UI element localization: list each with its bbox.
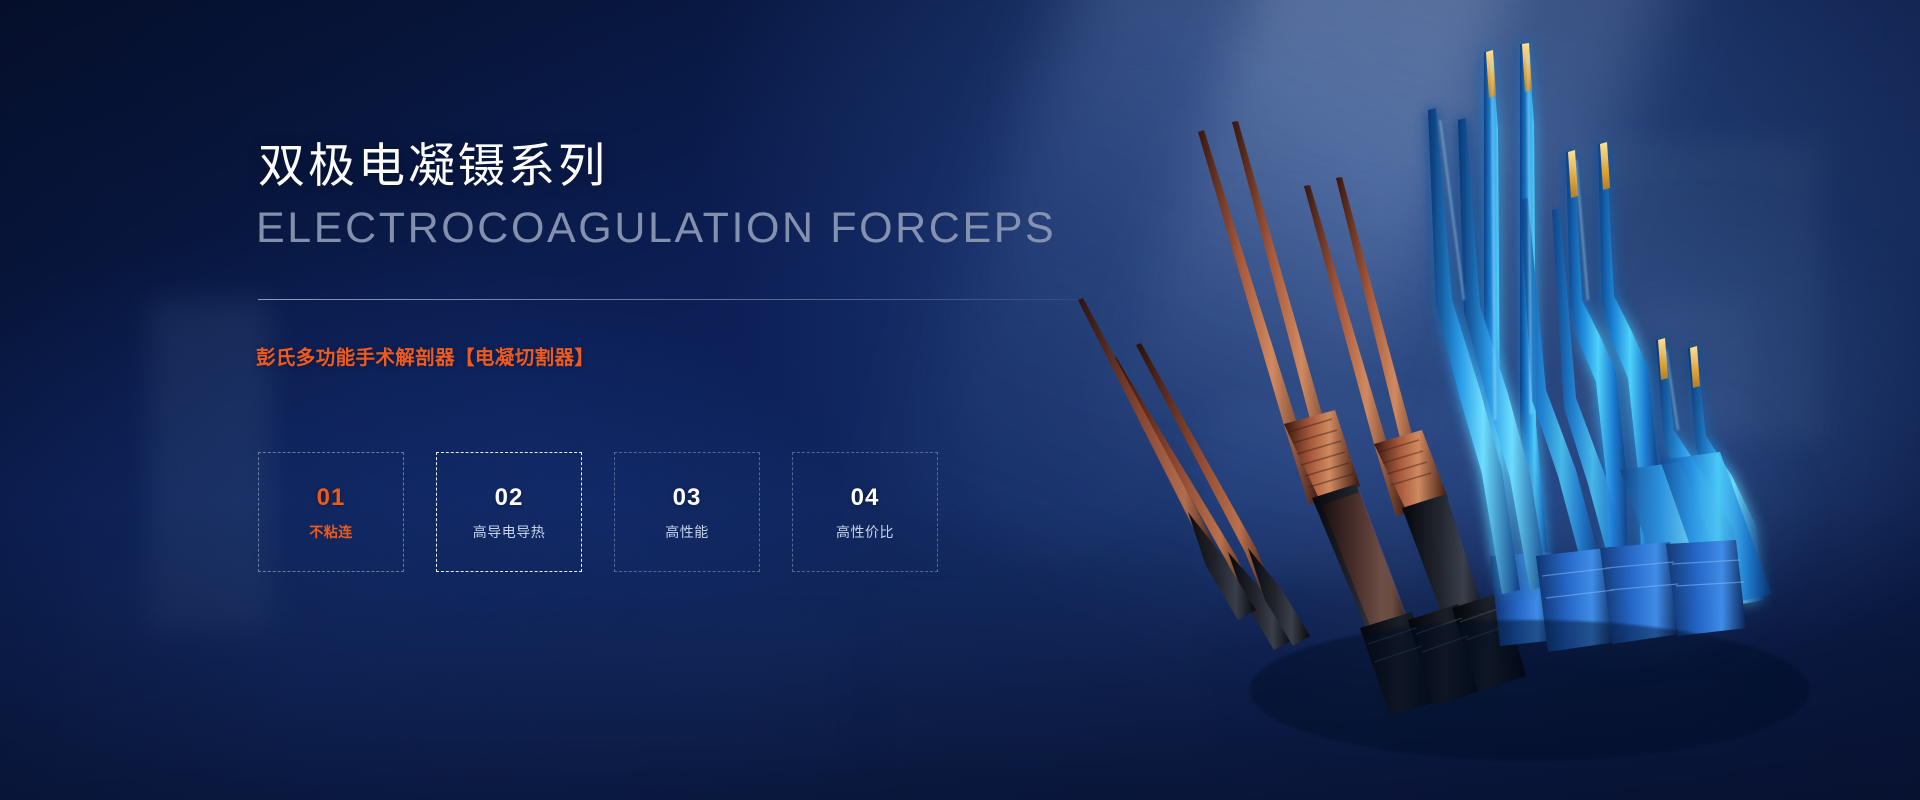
feature-list: 01 不粘连 02 高导电导热 03 高性能 04 高性价比 bbox=[258, 452, 938, 572]
feature-number: 01 bbox=[317, 486, 346, 510]
feature-number: 04 bbox=[851, 486, 880, 510]
divider-line bbox=[258, 299, 1078, 300]
feature-label: 高导电导热 bbox=[473, 525, 546, 539]
feature-item-01[interactable]: 01 不粘连 bbox=[258, 452, 404, 572]
product-description: 彭氏多功能手术解剖器【电凝切割器】 bbox=[256, 341, 594, 370]
page-title: 双极电凝镊系列 bbox=[258, 140, 608, 193]
feature-item-04[interactable]: 04 高性价比 bbox=[792, 452, 938, 572]
product-banner: 双极电凝镊系列 ELECTROCOAGULATION FORCEPS 彭氏多功能… bbox=[0, 0, 1920, 800]
banner-content: 双极电凝镊系列 ELECTROCOAGULATION FORCEPS 彭氏多功能… bbox=[0, 0, 1100, 800]
feature-item-03[interactable]: 03 高性能 bbox=[614, 452, 760, 572]
feature-label: 高性能 bbox=[665, 525, 709, 539]
feature-number: 03 bbox=[673, 486, 702, 510]
feature-item-02[interactable]: 02 高导电导热 bbox=[436, 452, 582, 572]
feature-number: 02 bbox=[495, 486, 524, 510]
page-subtitle-english: ELECTROCOAGULATION FORCEPS bbox=[256, 205, 1056, 252]
feature-label: 不粘连 bbox=[309, 525, 353, 539]
feature-label: 高性价比 bbox=[836, 525, 894, 539]
